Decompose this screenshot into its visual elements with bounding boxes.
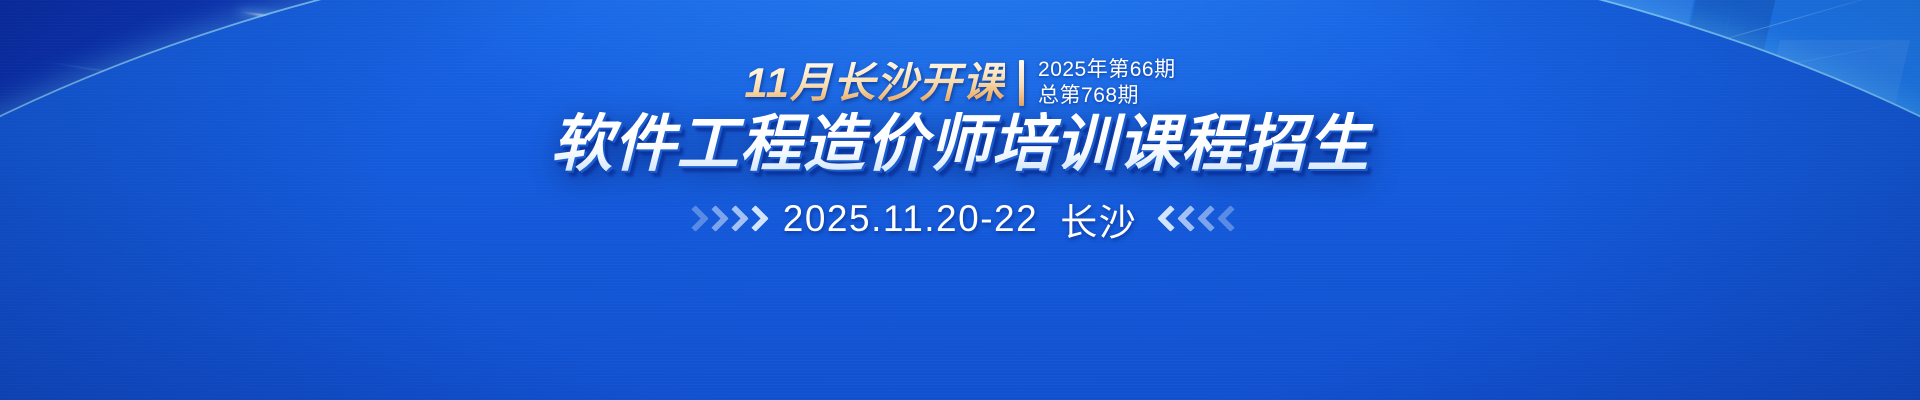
kicker-row: 11月长沙开课 2025年第66期 总第768期	[0, 58, 1920, 107]
chevron-right-icon-1	[684, 206, 701, 232]
chevron-left-icon-1	[1159, 206, 1176, 232]
chevron-left-icon-3	[1199, 206, 1216, 232]
chevron-left-group-icon	[1159, 206, 1236, 232]
chevron-right-icon-2	[704, 206, 721, 232]
issue-total-session: 总第768期	[1038, 84, 1176, 108]
event-city: 长沙	[1060, 192, 1137, 246]
chevron-right-icon-4	[744, 206, 761, 232]
event-date: 2025.11.20-22	[783, 198, 1038, 240]
vertical-divider-icon	[1019, 60, 1024, 106]
issue-year-session: 2025年第66期	[1038, 58, 1176, 82]
chevron-right-icon-3	[724, 206, 741, 232]
course-promo-banner: 11月长沙开课 2025年第66期 总第768期 软件工程造价师培训课程招生 2…	[0, 0, 1920, 400]
dateline-row: 2025.11.20-22 长沙	[0, 192, 1920, 246]
chevron-right-group-icon	[684, 206, 761, 232]
kicker-text: 11月长沙开课	[744, 62, 1005, 104]
banner-content: 11月长沙开课 2025年第66期 总第768期 软件工程造价师培训课程招生 2…	[0, 0, 1920, 400]
chevron-left-icon-4	[1219, 206, 1236, 232]
page-title: 软件工程造价师培训课程招生	[0, 112, 1920, 179]
chevron-left-icon-2	[1179, 206, 1196, 232]
issue-info: 2025年第66期 总第768期	[1038, 58, 1176, 107]
